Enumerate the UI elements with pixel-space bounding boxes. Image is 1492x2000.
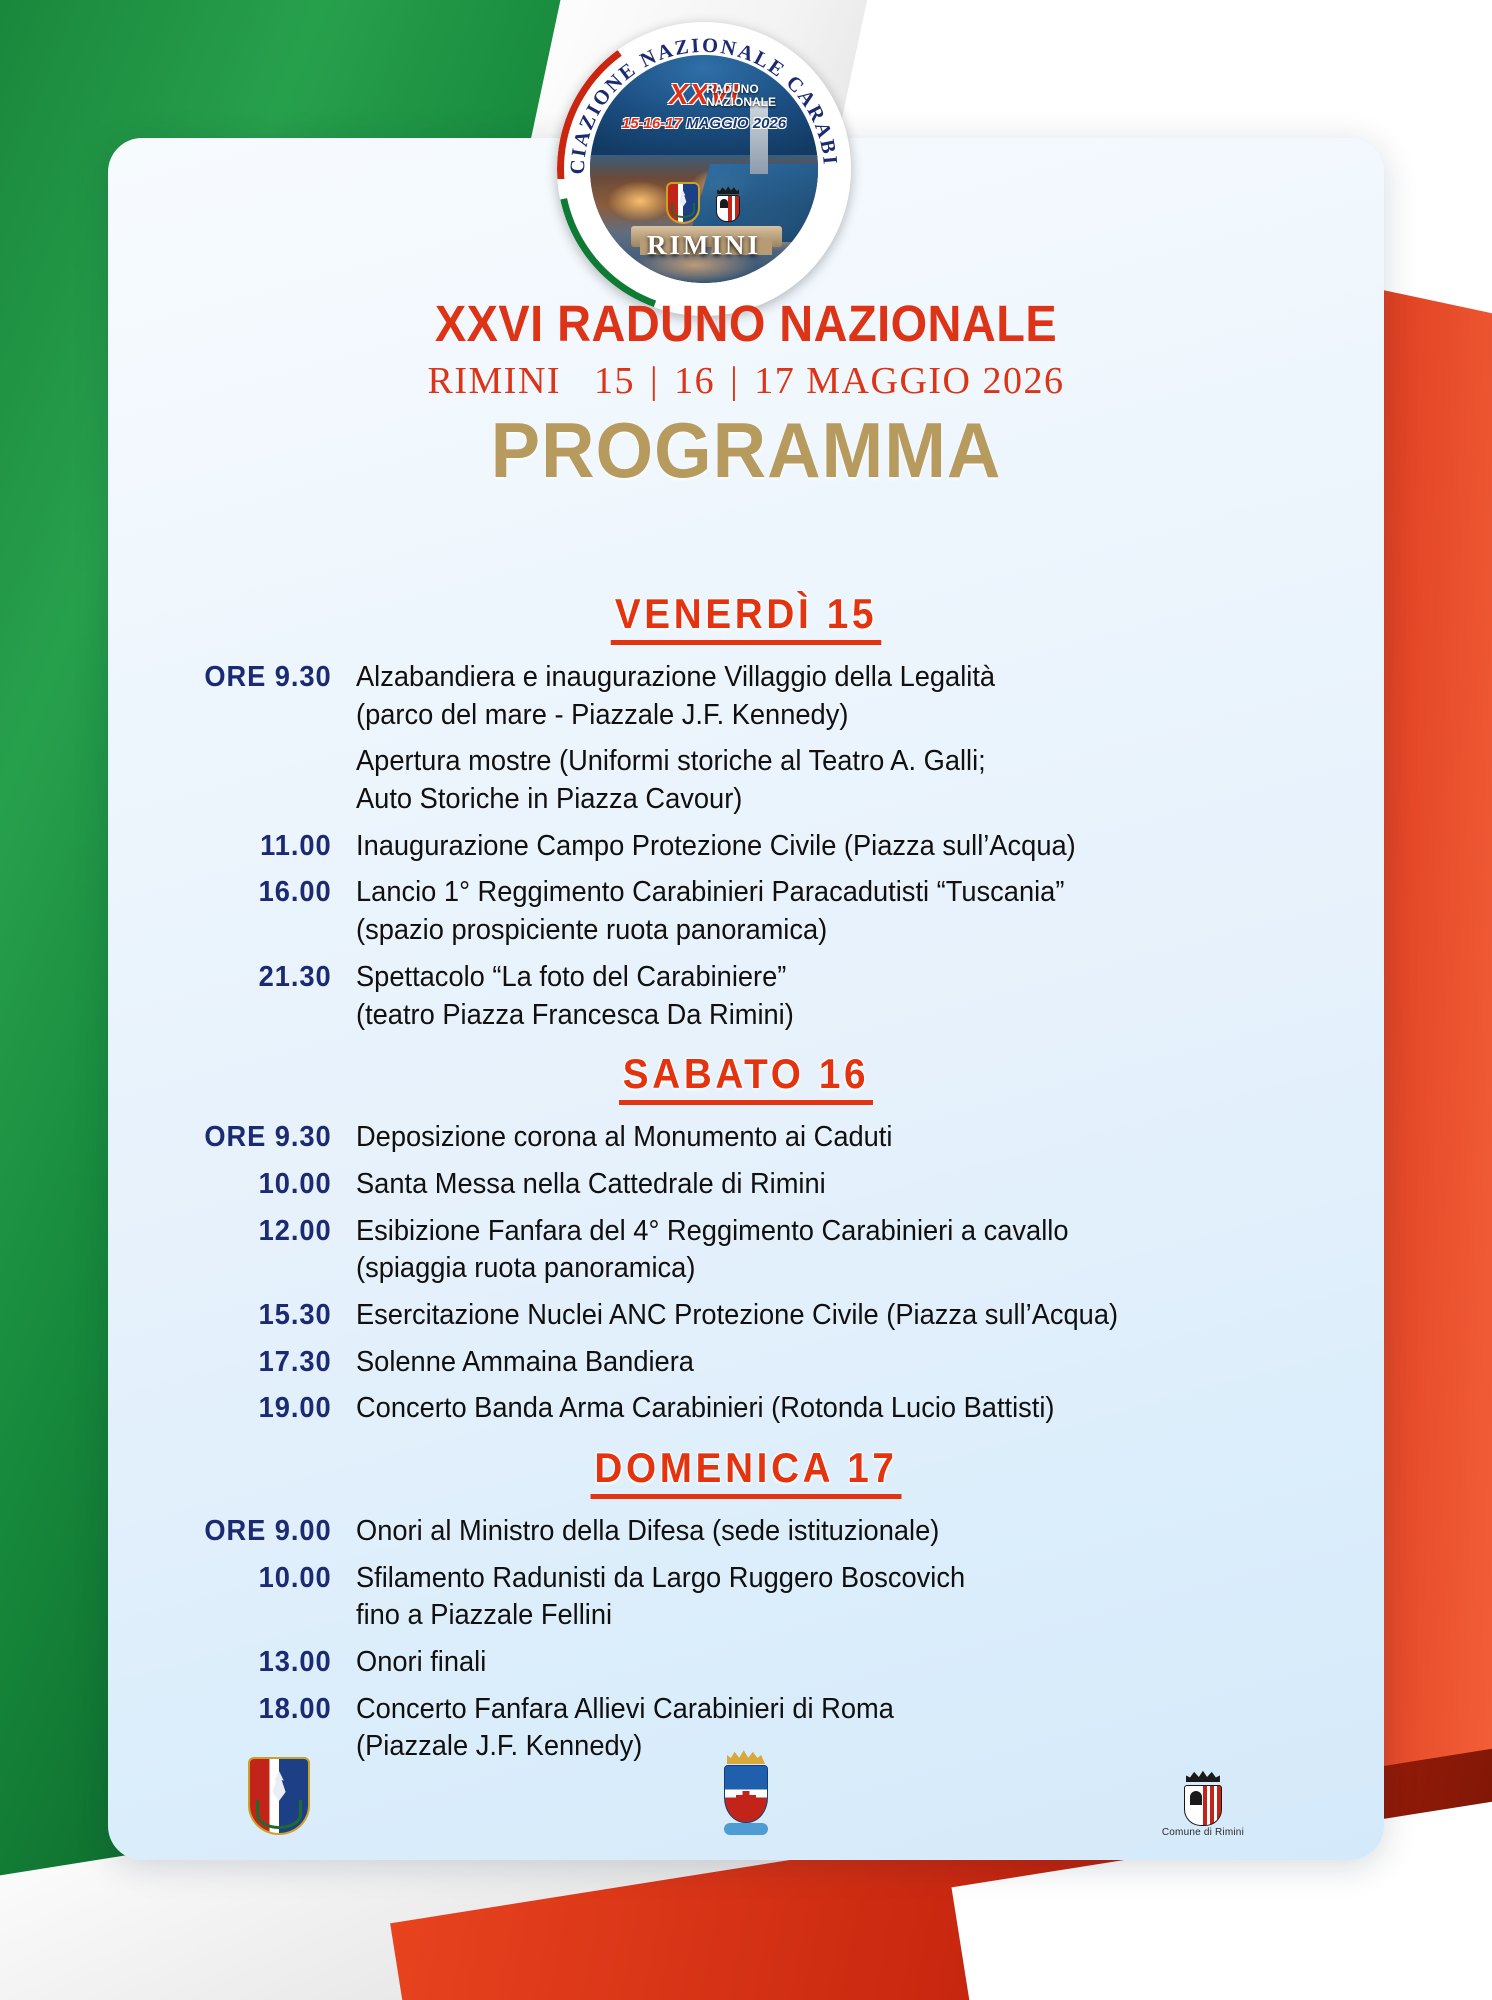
footer-comune-caption: Comune di Rimini bbox=[1162, 1827, 1244, 1838]
schedule-row: 17.30Solenne Ammaina Bandiera bbox=[108, 1344, 1384, 1382]
subtitle-month-year: MAGGIO 2026 bbox=[806, 360, 1064, 402]
schedule-time: ORE 9.30 bbox=[123, 659, 356, 696]
program-card: ASSOCIAZIONE NAZIONALE CARABINIERI XXVI … bbox=[108, 138, 1384, 1860]
program-heading: PROGRAMMA bbox=[140, 405, 1352, 496]
logo-raduno-text: RADUNO NAZIONALE bbox=[706, 83, 776, 108]
schedule-description: Sfilamento Radunisti da Largo Ruggero Bo… bbox=[356, 1560, 1322, 1635]
schedule-time: 11.00 bbox=[123, 828, 356, 865]
schedule-description: Alzabandiera e inaugurazione Villaggio d… bbox=[356, 659, 1322, 734]
schedule-row: 13.00Onori finali bbox=[108, 1644, 1384, 1682]
schedule-time: 15.30 bbox=[123, 1297, 356, 1334]
schedule-description: Spettacolo “La foto del Carabiniere” (te… bbox=[356, 959, 1322, 1034]
subtitle-day1: 15 bbox=[594, 360, 635, 402]
schedule-description: Concerto Banda Arma Carabinieri (Rotonda… bbox=[356, 1390, 1322, 1428]
schedule-description: Deposizione corona al Monumento ai Cadut… bbox=[356, 1119, 1322, 1157]
logo-tower bbox=[750, 101, 768, 174]
logo-city-name: RIMINI bbox=[590, 230, 818, 261]
schedule-row: 16.00Lancio 1° Reggimento Carabinieri Pa… bbox=[108, 874, 1384, 949]
subtitle-day3: 17 bbox=[754, 360, 795, 402]
day-heading-label: VENERDÌ 15 bbox=[615, 590, 877, 645]
schedule-time: 10.00 bbox=[123, 1560, 356, 1597]
schedule-time: ORE 9.00 bbox=[123, 1513, 356, 1550]
title-block: XXVI RADUNO NAZIONALE RIMINI 15 | 16 | 1… bbox=[108, 294, 1384, 496]
carabinieri-crest-icon bbox=[718, 1749, 774, 1835]
day-heading-label: DOMENICA 17 bbox=[594, 1444, 897, 1499]
day-heading: SABATO 16 bbox=[159, 1050, 1333, 1105]
logo-anc-crest-icon bbox=[666, 182, 700, 224]
logo-raduno-line1: RADUNO bbox=[706, 83, 776, 96]
subtitle-sep-2: | bbox=[726, 360, 743, 402]
day-heading-label: SABATO 16 bbox=[623, 1050, 869, 1105]
schedule-description: Apertura mostre (Uniformi storiche al Te… bbox=[356, 743, 1322, 818]
footer-carabinieri-logo bbox=[718, 1749, 774, 1838]
schedule-time: 13.00 bbox=[123, 1644, 356, 1681]
schedule-row: 10.00Santa Messa nella Cattedrale di Rim… bbox=[108, 1166, 1384, 1204]
logo-edition-number: XXVI bbox=[590, 81, 818, 110]
logo-date-line: 15-16-17 MAGGIO 2026 bbox=[590, 115, 818, 132]
flame-icon bbox=[268, 1771, 290, 1801]
gate-icon bbox=[1190, 1791, 1202, 1805]
schedule-description: Solenne Ammaina Bandiera bbox=[356, 1344, 1322, 1382]
mural-crown-icon bbox=[1186, 1770, 1220, 1782]
anc-raduno-logo: ASSOCIAZIONE NAZIONALE CARABINIERI XXVI … bbox=[557, 22, 851, 316]
footer-comune-logo: Comune di Rimini bbox=[1162, 1770, 1244, 1838]
schedule-row: 21.30Spettacolo “La foto del Carabiniere… bbox=[108, 959, 1384, 1034]
page-title: XXVI RADUNO NAZIONALE bbox=[159, 294, 1333, 353]
laurel-icon bbox=[256, 1800, 302, 1829]
schedule-row: Apertura mostre (Uniformi storiche al Te… bbox=[108, 743, 1384, 818]
footer-logos: Comune di Rimini bbox=[108, 1738, 1384, 1842]
comune-crest-icon bbox=[1180, 1770, 1226, 1824]
schedule-row: ORE 9.00Onori al Ministro della Difesa (… bbox=[108, 1513, 1384, 1551]
schedule-row: 12.00Esibizione Fanfara del 4° Reggiment… bbox=[108, 1213, 1384, 1288]
day-heading: DOMENICA 17 bbox=[159, 1444, 1333, 1499]
schedule-row: 19.00Concerto Banda Arma Carabinieri (Ro… bbox=[108, 1390, 1384, 1428]
day-schedule: ORE 9.30Alzabandiera e inaugurazione Vil… bbox=[108, 659, 1384, 1034]
schedule-time: 10.00 bbox=[123, 1166, 356, 1203]
schedule-description: Onori finali bbox=[356, 1644, 1322, 1682]
red-stripes bbox=[1203, 1786, 1221, 1825]
schedule-row: 11.00Inaugurazione Campo Protezione Civi… bbox=[108, 828, 1384, 866]
schedule-description: Santa Messa nella Cattedrale di Rimini bbox=[356, 1166, 1322, 1204]
subtitle-dateline: RIMINI 15 | 16 | 17 MAGGIO 2026 bbox=[108, 359, 1384, 403]
subtitle-day2: 16 bbox=[674, 360, 715, 402]
logo-raduno-line2: NAZIONALE bbox=[706, 96, 776, 109]
anc-crest-icon bbox=[248, 1757, 310, 1835]
logo-comune-crest-icon bbox=[714, 186, 742, 220]
logo-month-year: MAGGIO 2026 bbox=[686, 115, 786, 132]
logo-inner-emblems bbox=[590, 182, 818, 229]
schedule-row: 10.00Sfilamento Radunisti da Largo Rugge… bbox=[108, 1560, 1384, 1635]
schedule-time: 18.00 bbox=[123, 1691, 356, 1728]
schedule-row: ORE 9.30Deposizione corona al Monumento … bbox=[108, 1119, 1384, 1157]
shield-icon bbox=[724, 1765, 768, 1823]
schedule-time: 21.30 bbox=[123, 959, 356, 996]
schedule-description: Inaugurazione Campo Protezione Civile (P… bbox=[356, 828, 1322, 866]
logo-dates: 15-16-17 bbox=[622, 115, 682, 132]
day-schedule: ORE 9.00Onori al Ministro della Difesa (… bbox=[108, 1513, 1384, 1766]
schedule-time: 16.00 bbox=[123, 874, 356, 911]
subtitle-city: RIMINI bbox=[428, 360, 562, 402]
schedule-description: Esercitazione Nuclei ANC Protezione Civi… bbox=[356, 1297, 1322, 1335]
day-heading: VENERDÌ 15 bbox=[159, 590, 1333, 645]
schedule-row: 15.30Esercitazione Nuclei ANC Protezione… bbox=[108, 1297, 1384, 1335]
comune-shield-icon bbox=[1184, 1785, 1222, 1826]
schedule-root: VENERDÌ 15ORE 9.30Alzabandiera e inaugur… bbox=[108, 590, 1384, 1775]
schedule-description: Esibizione Fanfara del 4° Reggimento Car… bbox=[356, 1213, 1322, 1288]
schedule-description: Lancio 1° Reggimento Carabinieri Paracad… bbox=[356, 874, 1322, 949]
logo-rimini-photo: XXVI RADUNO NAZIONALE 15-16-17 MAGGIO 20… bbox=[590, 55, 818, 283]
ribbon-icon bbox=[724, 1823, 768, 1835]
schedule-time: ORE 9.30 bbox=[123, 1119, 356, 1156]
schedule-time: 19.00 bbox=[123, 1390, 356, 1427]
subtitle-sep-1: | bbox=[646, 360, 663, 402]
schedule-time: 12.00 bbox=[123, 1213, 356, 1250]
schedule-time: 17.30 bbox=[123, 1344, 356, 1381]
cross-horizontal bbox=[736, 1795, 756, 1802]
schedule-description: Onori al Ministro della Difesa (sede ist… bbox=[356, 1513, 1322, 1551]
schedule-row: ORE 9.30Alzabandiera e inaugurazione Vil… bbox=[108, 659, 1384, 734]
crown-icon bbox=[727, 1749, 765, 1764]
day-schedule: ORE 9.30Deposizione corona al Monumento … bbox=[108, 1119, 1384, 1428]
footer-anc-logo bbox=[248, 1757, 310, 1838]
